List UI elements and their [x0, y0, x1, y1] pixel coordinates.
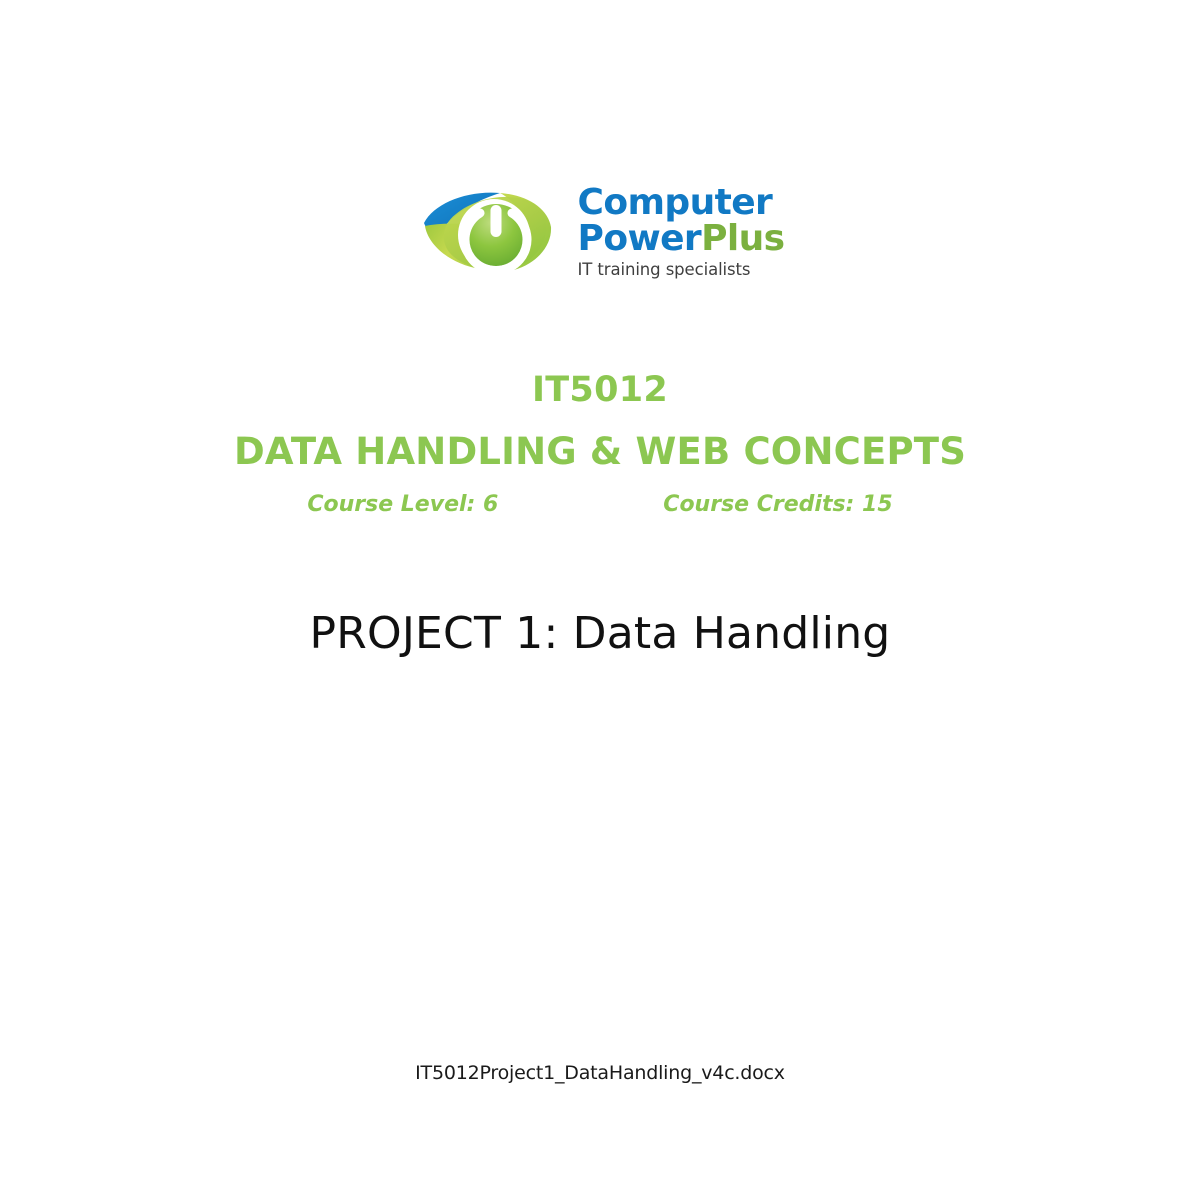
logo-word-plus: Plus	[701, 218, 784, 259]
logo-inner: Computer PowerPlus IT training specialis…	[416, 183, 785, 278]
course-meta-spacer	[498, 492, 663, 517]
logo-wordmark: Computer PowerPlus IT training specialis…	[578, 183, 785, 278]
project-title: PROJECT 1: Data Handling	[0, 608, 1200, 659]
course-level: Course Level: 6	[307, 492, 498, 517]
course-code: IT5012	[0, 370, 1200, 410]
footer-filename: IT5012Project1_DataHandling_v4c.docx	[0, 1062, 1200, 1084]
course-credits: Course Credits: 15	[663, 492, 892, 517]
course-title: DATA HANDLING & WEB CONCEPTS	[0, 430, 1200, 473]
course-meta-row: Course Level: 6 Course Credits: 15	[0, 492, 1200, 517]
logo-word-power: Power	[578, 218, 702, 259]
logo-block: Computer PowerPlus IT training specialis…	[0, 183, 1200, 278]
logo-word-powerplus: PowerPlus	[578, 221, 785, 256]
document-page: Computer PowerPlus IT training specialis…	[0, 0, 1200, 1200]
logo-word-computer: Computer	[578, 185, 785, 220]
computer-power-plus-logo-icon	[416, 183, 566, 278]
logo-tagline: IT training specialists	[578, 262, 785, 279]
